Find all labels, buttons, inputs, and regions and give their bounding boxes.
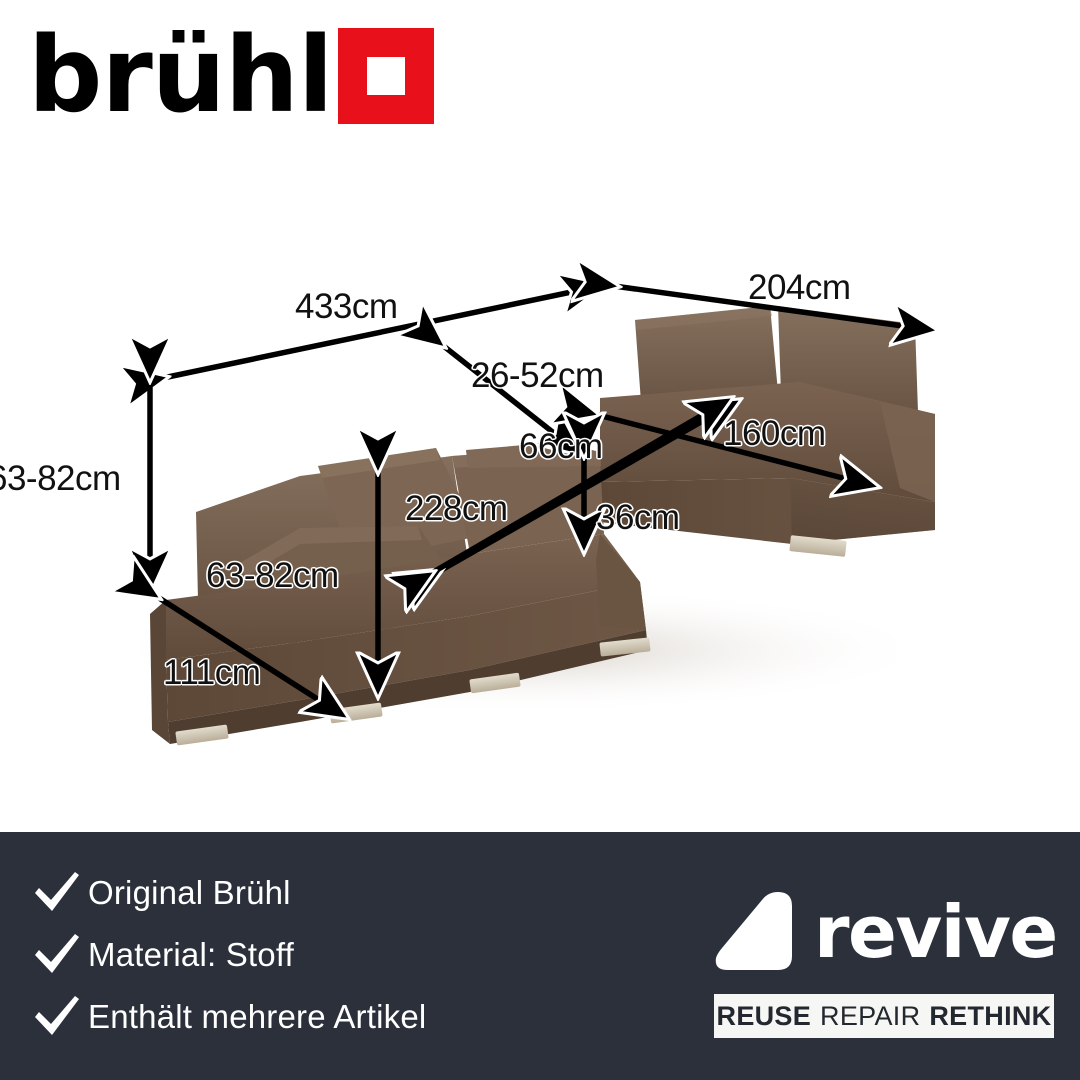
info-banner: Original Brühl Material: Stoff Enthält m… (0, 832, 1080, 1080)
dim-label-26-52: 26-52cm (471, 356, 604, 396)
revive-tagline-bar: REUSE REPAIR RETHINK (714, 994, 1054, 1038)
feature-label-multiple: Enthält mehrere Artikel (88, 998, 426, 1036)
revive-logo: revive REUSE REPAIR RETHINK (706, 884, 1054, 1038)
dim-label-66: 66cm (519, 427, 603, 467)
feature-list: Original Brühl Material: Stoff Enthält m… (26, 870, 426, 1040)
product-image-card: brühl (0, 0, 1080, 1080)
checkmark-icon (26, 995, 88, 1039)
dim-label-228: 228cm (405, 489, 508, 529)
dim-label-36: 36cm (596, 498, 680, 538)
dim-label-433: 433cm (295, 287, 398, 327)
feature-label-material: Material: Stoff (88, 936, 294, 974)
dim-label-111: 111cm (163, 653, 260, 693)
feature-item-material: Material: Stoff (26, 932, 426, 978)
checkmark-icon (26, 933, 88, 977)
dim-label-204: 204cm (748, 268, 851, 308)
checkmark-icon (26, 871, 88, 915)
tagline-word-repair: REPAIR (820, 1001, 920, 1032)
dim-label-63-82-inner: 63-82cm (206, 556, 339, 596)
brand-wordmark: brühl (28, 28, 332, 124)
feature-label-original: Original Brühl (88, 874, 291, 912)
dim-label-160: 160cm (723, 414, 826, 454)
red-square-logo-mark (338, 28, 434, 124)
brand-logo: brühl (28, 24, 434, 128)
dim-label-63-82-left: 63-82cm (0, 459, 121, 499)
revive-logo-top: revive (706, 884, 1054, 980)
feature-item-multiple: Enthält mehrere Artikel (26, 994, 426, 1040)
revive-leaf-mark (706, 884, 810, 980)
tagline-word-rethink: RETHINK (929, 1001, 1051, 1032)
feature-item-original: Original Brühl (26, 870, 426, 916)
revive-wordmark: revive (814, 896, 1057, 968)
tagline-word-reuse: REUSE (717, 1001, 812, 1032)
logo-mark-inner-square (367, 57, 405, 95)
corner-sofa-photo (0, 130, 1080, 830)
product-photo-stage (0, 130, 1080, 830)
